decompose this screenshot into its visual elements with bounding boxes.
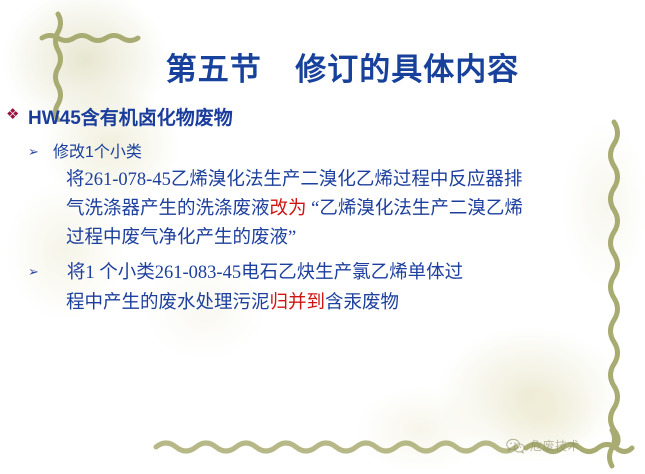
slide-body: ❖ HW45含有机卤化物废物 ➢ 修改1个小类 将261-078-45乙烯溴化法… — [0, 106, 645, 318]
text-run: 过程中废气净化产生的废液” — [66, 228, 296, 248]
content-block-merge-subcategory: ➢ 将1 个小类261-083-45电石乙炔生产氯乙烯单体过 程中产生的废水处理… — [0, 258, 645, 318]
text-run-highlight: 归并到 — [270, 293, 326, 313]
content-block-modify-subcategory: ➢ 修改1个小类 将261-078-45乙烯溴化法生产二溴化乙烯过程中反应器排 … — [0, 138, 645, 253]
watermark-text: 危废技术 — [530, 437, 580, 454]
arrow-bullet-icon: ➢ — [28, 260, 39, 284]
section-heading-hw45: ❖ HW45含有机卤化物废物 — [0, 106, 645, 132]
text-run: 将1 个小类261-083-45电石乙炔生产氯乙烯单体过 — [67, 263, 463, 283]
list-item-modify-label: ➢ 修改1个小类 — [0, 138, 645, 166]
wechat-icon — [506, 438, 525, 454]
arrow-bullet-icon: ➢ — [28, 140, 39, 164]
paragraph-line: 气洗涤器产生的洗涤废液改为 “乙烯溴化法生产二溴乙烯 — [0, 195, 645, 224]
paragraph-line: 将1 个小类261-083-45电石乙炔生产氯乙烯单体过 — [0, 258, 645, 288]
text-run: 程中产生的废水处理污泥 — [66, 293, 270, 313]
slide-title: 第五节 修订的具体内容 — [0, 44, 645, 89]
title-section-number: 第五节 — [166, 52, 262, 87]
brush-horizontal-wave-decoration-icon — [152, 425, 532, 465]
paragraph-line: 程中产生的废水处理污泥归并到含汞废物 — [0, 288, 645, 318]
background-wash — [330, 370, 510, 474]
background-wash — [470, 355, 620, 474]
text-run: 气洗涤器产生的洗涤废液 — [66, 199, 270, 219]
list-item-label: 修改1个小类 — [53, 144, 142, 161]
text-run: 含汞废物 — [325, 293, 399, 313]
watermark: 危废技术 — [506, 437, 580, 454]
title-section-name: 修订的具体内容 — [295, 52, 519, 87]
paragraph-line: 过程中废气净化产生的废液” — [0, 224, 645, 253]
presentation-slide: 第五节 修订的具体内容 ❖ HW45含有机卤化物废物 ➢ 修改1个小类 将261… — [0, 0, 645, 474]
text-run: “乙烯溴化法生产二溴乙烯 — [307, 199, 523, 219]
paragraph-line: 将261-078-45乙烯溴化法生产二溴化乙烯过程中反应器排 — [0, 166, 645, 195]
diamond-bullet-icon: ❖ — [6, 107, 20, 121]
section-heading-text: HW45含有机卤化物废物 — [28, 108, 233, 129]
text-run-highlight: 改为 — [270, 199, 307, 219]
text-run: 将261-078-45乙烯溴化法生产二溴化乙烯过程中反应器排 — [66, 170, 522, 190]
